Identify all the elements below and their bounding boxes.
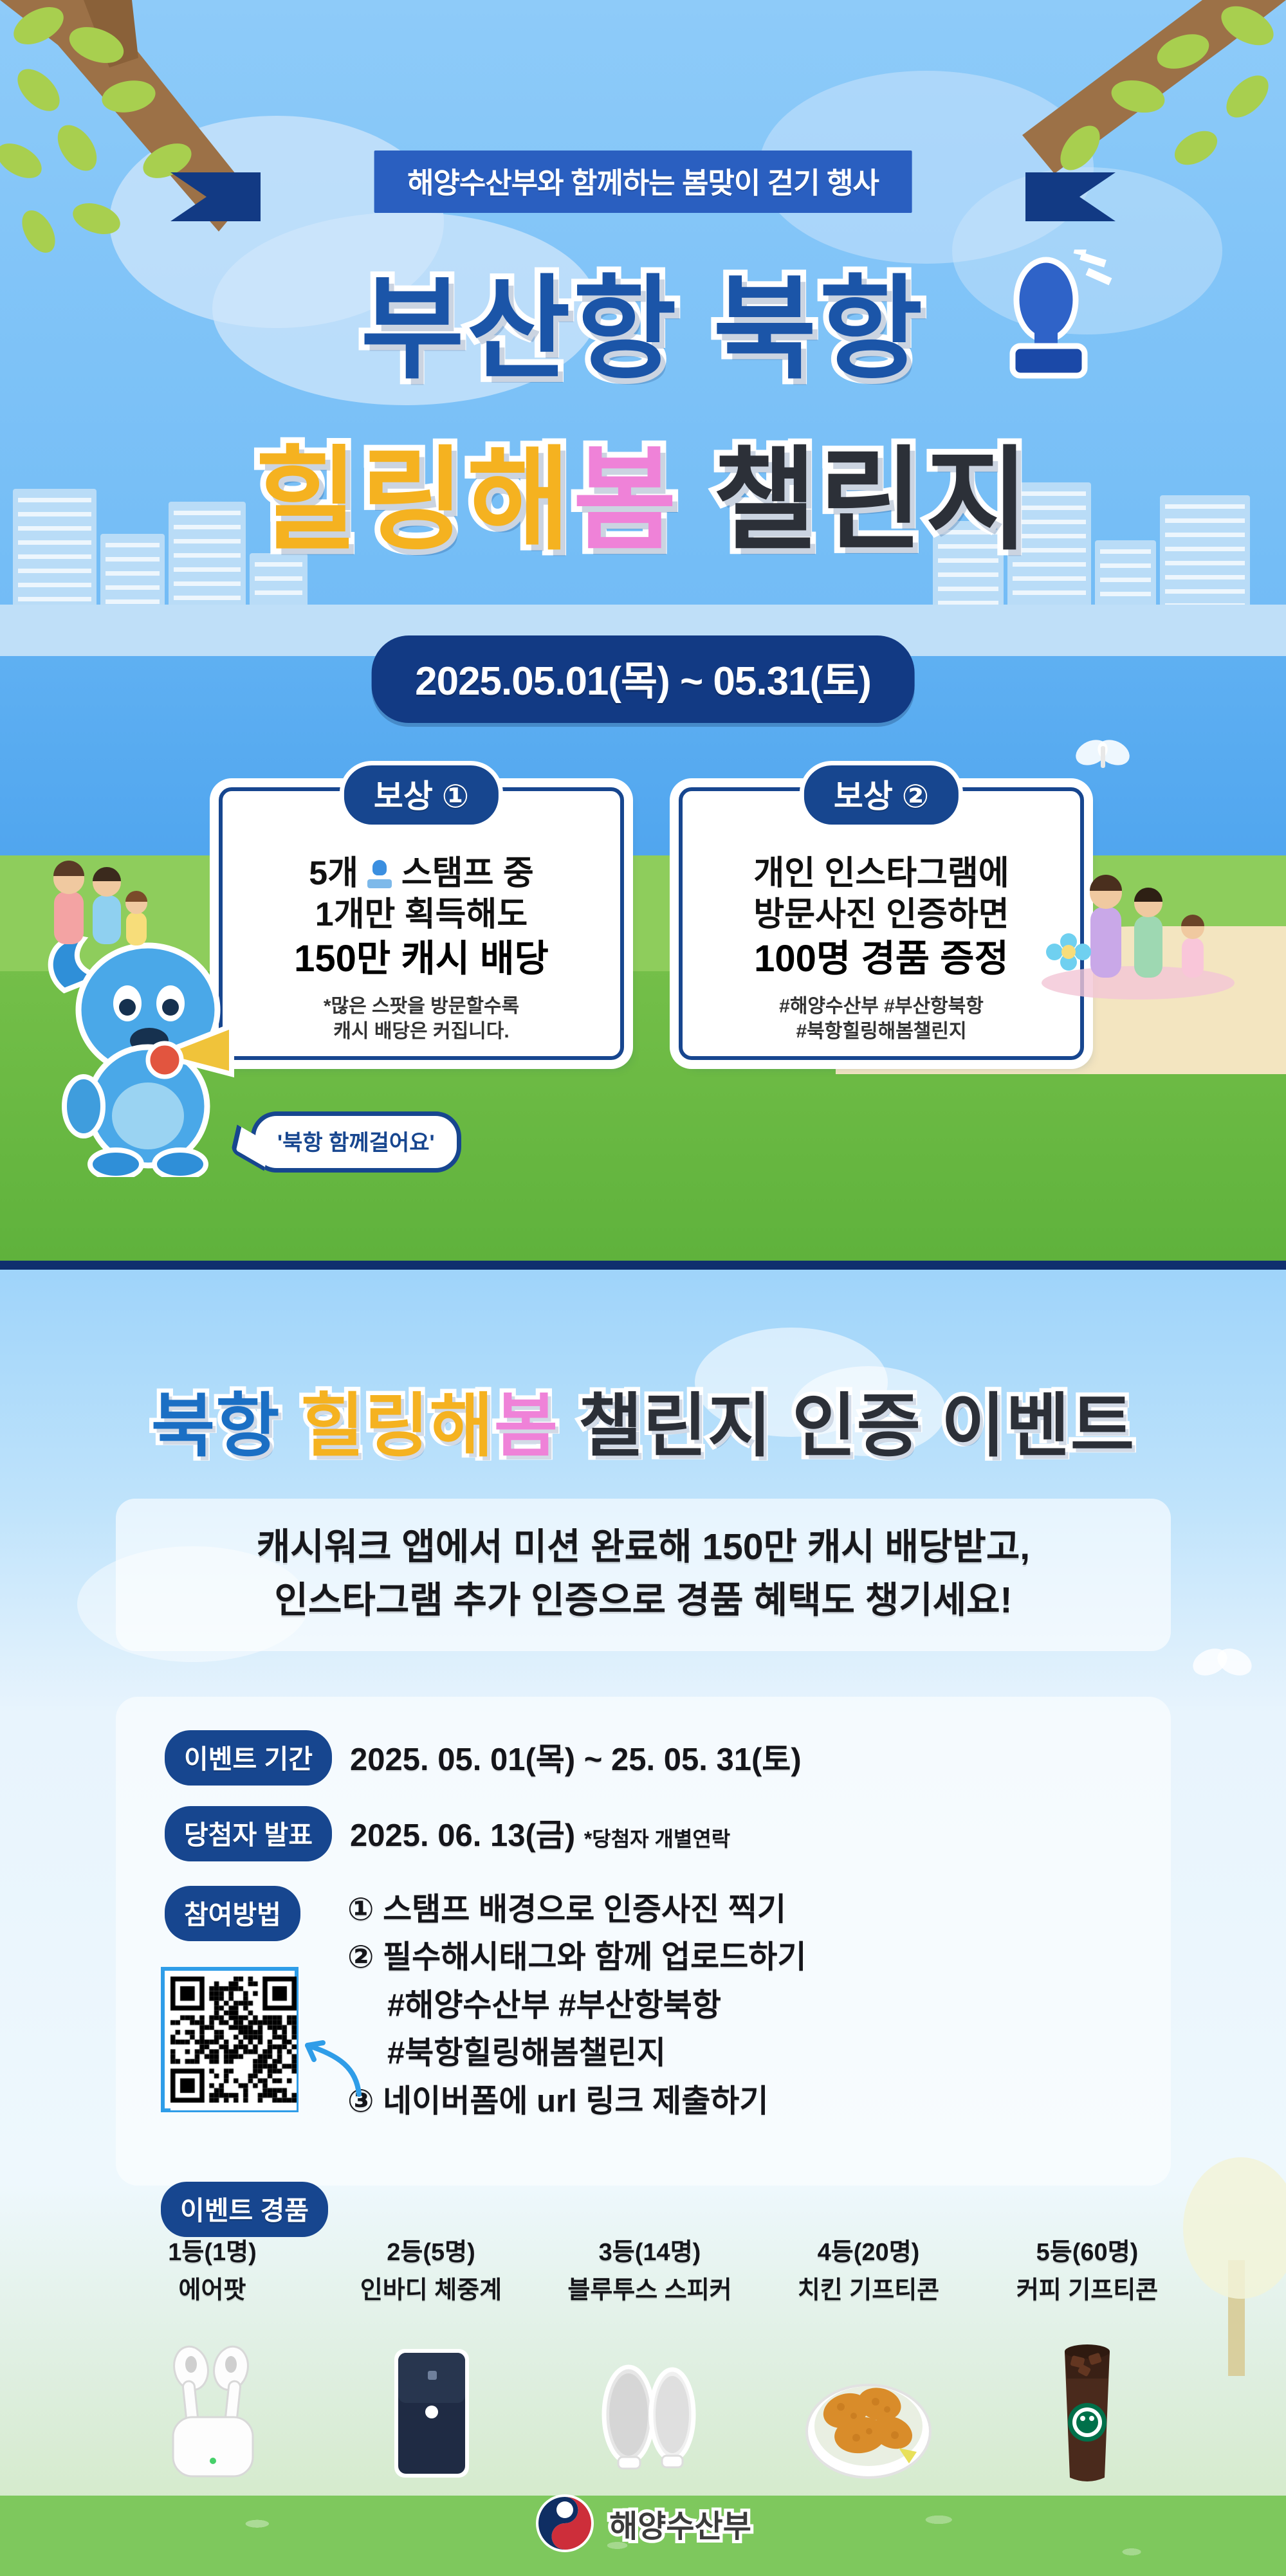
bluetooth-speaker-icon — [540, 2322, 759, 2489]
info-row-how: 참여방법 — [165, 1886, 300, 1941]
top-hero-section: 해양수산부와 함께하는 봄맞이 걷기 행사 부산항 북항 힐링해봄 챌린지 20… — [0, 0, 1286, 1261]
period-label: 이벤트 기간 — [165, 1730, 332, 1786]
reward-1-note: *많은 스팟을 방문할수록 캐시 배당은 커집니다. — [235, 994, 607, 1044]
poster-root: 해양수산부와 함께하는 봄맞이 걷기 행사 부산항 북항 힐링해봄 챌린지 20… — [0, 0, 1286, 2576]
fried-chicken-icon — [759, 2322, 978, 2489]
mascot-speech-bubble: '북항 함께걸어요' — [251, 1111, 461, 1173]
date-badge: 2025.05.01(목) ~ 05.31(토) — [371, 635, 915, 723]
reward-2-highlight: 100명 경품 증정 — [695, 936, 1067, 982]
reward-1-note-line1: *많은 스팟을 방문할수록 — [235, 994, 607, 1019]
prize-name: 에어팟 — [103, 2270, 322, 2305]
heading-healing: 힐링해 — [300, 1387, 494, 1465]
step-2: ② 필수해시태그와 함께 업로드하기 — [347, 1933, 806, 1981]
park-people-right — [1029, 830, 1247, 1003]
reward-card-2: 보상 ② 개인 인스타그램에 방문사진 인증하면 100명 경품 증정 #해양수… — [679, 787, 1084, 1060]
winner-date: 2025. 06. 13(금) — [350, 1818, 575, 1853]
tree-branch-decoration — [0, 0, 399, 277]
title-spring: 봄 — [573, 438, 679, 563]
prize-list: 1등(1명) 에어팟 2등(5명) 인 — [103, 2232, 1197, 2489]
prize-label: 이벤트 경품 — [161, 2182, 328, 2237]
winner-label: 당첨자 발표 — [165, 1806, 332, 1861]
info-row-period: 이벤트 기간 2025. 05. 01(목) ~ 25. 05. 31(토) — [165, 1730, 802, 1786]
prize-section-badge: 이벤트 경품 — [161, 2182, 328, 2237]
step-2-hashtags-line1: #해양수산부 #부산항북항 — [347, 1982, 806, 2029]
stamp-icon-small — [367, 860, 392, 888]
description-line-2: 인스타그램 추가 인증으로 경품 혜택도 챙기세요! — [129, 1574, 1158, 1627]
stamp-icon — [984, 250, 1113, 391]
prize-item: 2등(5명) 인바디 체중계 — [322, 2232, 540, 2489]
body-scale-icon — [322, 2322, 540, 2489]
reward-1-line1: 5개 스탬프 중 — [235, 853, 607, 894]
heading-challenge: 챌린지 인증 이벤트 — [578, 1387, 1135, 1465]
winner-note: *당첨자 개별연락 — [584, 1827, 730, 1850]
step-3: ③ 네이버폼에 url 링크 제출하기 — [347, 2078, 806, 2125]
step-2-hashtags-line2: #북항힐링해봄챌린지 — [347, 2029, 806, 2077]
heading-bukhang: 북항 — [151, 1387, 280, 1465]
prize-name: 치킨 기프티콘 — [759, 2270, 978, 2305]
prize-rank: 1등(1명) — [103, 2232, 322, 2267]
reward-2-line2: 방문사진 인증하면 — [695, 894, 1067, 935]
winner-value: 2025. 06. 13(금) *당첨자 개별연락 — [350, 1806, 730, 1856]
prize-name: 인바디 체중계 — [322, 2270, 540, 2305]
how-label: 참여방법 — [165, 1886, 300, 1941]
prize-name: 블루투스 스피커 — [540, 2270, 759, 2305]
prize-item: 3등(14명) 블루투스 스피커 — [540, 2232, 759, 2489]
poster-title-line2: 힐링해봄 챌린지 — [0, 409, 1286, 572]
prize-rank: 4등(20명) — [759, 2232, 978, 2267]
reward-2-note: #해양수산부 #부산항북항 #북항힐링해봄챌린지 — [695, 994, 1067, 1044]
event-ribbon: 해양수산부와 함께하는 봄맞이 걷기 행사 — [0, 147, 1286, 217]
reward-1-line2: 1개만 획득해도 — [235, 894, 607, 935]
reward-1-stamp-text: 스탬프 중 — [401, 855, 534, 892]
title-challenge: 챌린지 — [713, 438, 1031, 563]
event-section-heading: 북항 힐링해봄 챌린지 인증 이벤트 — [0, 1370, 1286, 1470]
footer: 해양수산부 — [0, 2470, 1286, 2576]
korea-government-taegeuk-logo — [535, 2493, 595, 2553]
footer-org-name: 해양수산부 — [609, 2501, 751, 2546]
ribbon-tail-right — [1025, 172, 1116, 221]
airpods-icon — [103, 2322, 322, 2489]
reward-2-hashtags-line2: #북항힐링해봄챌린지 — [695, 1019, 1067, 1044]
butterfly-icon — [1183, 1630, 1260, 1701]
date-badge-text: 2025.05.01(목) ~ 05.31(토) — [415, 659, 871, 704]
butterfly-icon — [1067, 727, 1138, 785]
participation-steps: ① 스탬프 배경으로 인증사진 찍기 ② 필수해시태그와 함께 업로드하기 #해… — [347, 1886, 806, 2125]
reward-2-badge: 보상 ② — [800, 761, 963, 829]
qr-arrow-icon — [297, 2027, 368, 2098]
prize-rank: 3등(14명) — [540, 2232, 759, 2267]
reward-1-note-line2: 캐시 배당은 커집니다. — [235, 1019, 607, 1044]
reward-1-highlight: 150만 캐시 배당 — [235, 936, 607, 982]
ribbon-body: 해양수산부와 함께하는 봄맞이 걷기 행사 — [374, 151, 912, 213]
reward-2-line1: 개인 인스타그램에 — [695, 853, 1067, 894]
iced-coffee-icon — [978, 2322, 1197, 2489]
prize-rank: 2등(5명) — [322, 2232, 540, 2267]
reward-1-badge: 보상 ① — [340, 761, 503, 829]
prize-item: 1등(1명) 에어팟 — [103, 2232, 322, 2489]
prize-item: 5등(60명) 커피 기프티콘 — [978, 2232, 1197, 2489]
step-1: ① 스탬프 배경으로 인증사진 찍기 — [347, 1886, 806, 1933]
event-description: 캐시워크 앱에서 미션 완료해 150만 캐시 배당받고, 인스타그램 추가 인… — [116, 1499, 1171, 1651]
ribbon-text: 해양수산부와 함께하는 봄맞이 걷기 행사 — [407, 160, 879, 201]
period-value: 2025. 05. 01(목) ~ 25. 05. 31(토) — [350, 1730, 802, 1780]
description-line-1: 캐시워크 앱에서 미션 완료해 150만 캐시 배당받고, — [129, 1521, 1158, 1574]
ribbon-tail-left — [170, 172, 261, 221]
section-divider — [0, 1261, 1286, 1270]
qr-code[interactable] — [161, 1967, 299, 2112]
park-people-left — [26, 836, 193, 965]
info-row-winner: 당첨자 발표 2025. 06. 13(금) *당첨자 개별연락 — [165, 1806, 730, 1861]
mascot-speech-text: '북항 함께걸어요' — [277, 1131, 435, 1155]
heading-spring: 봄 — [494, 1387, 558, 1465]
title-healing: 힐링해 — [255, 438, 573, 563]
reward-1-count: 5개 — [309, 855, 358, 892]
prize-rank: 5등(60명) — [978, 2232, 1197, 2267]
prize-name: 커피 기프티콘 — [978, 2270, 1197, 2305]
reward-2-hashtags-line1: #해양수산부 #부산항북항 — [695, 994, 1067, 1019]
prize-item: 4등(20명) 치킨 기프티콘 — [759, 2232, 978, 2489]
reward-card-1: 보상 ① 5개 스탬프 중 1개만 획득해도 150만 캐시 배당 *많은 스팟… — [219, 787, 624, 1060]
